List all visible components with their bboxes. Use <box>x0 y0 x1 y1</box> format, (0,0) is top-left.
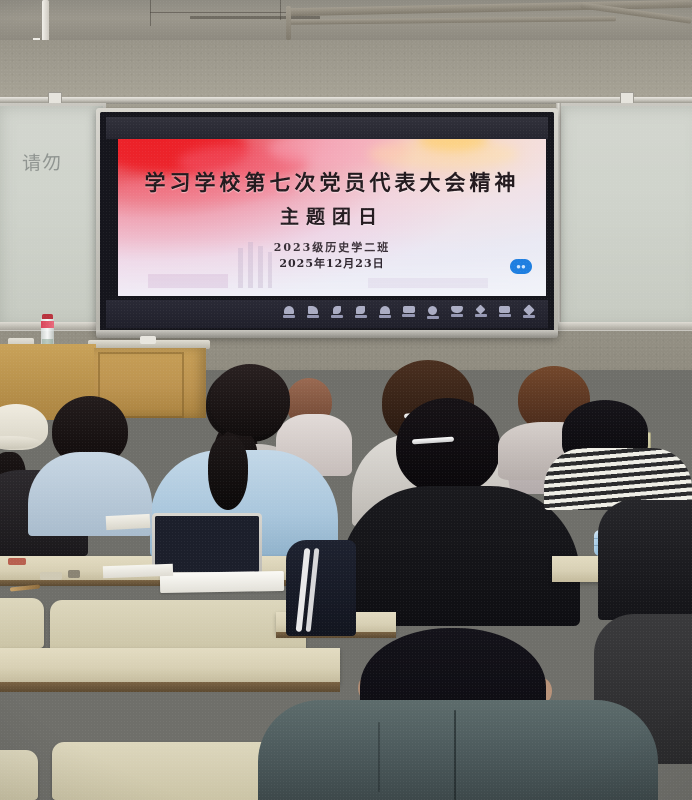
bottle-cap <box>42 314 53 319</box>
display-chin <box>96 330 558 338</box>
next-icon[interactable] <box>521 306 536 323</box>
desk-row-front <box>0 648 340 684</box>
shape-icon[interactable] <box>377 306 392 323</box>
grid-icon[interactable] <box>497 306 512 323</box>
whiteboard-handwriting: 请勿 <box>22 147 93 175</box>
desk-edge <box>0 682 340 692</box>
whiteboard-right <box>556 103 692 331</box>
keyboard-icon[interactable] <box>401 306 416 323</box>
chair-back <box>0 598 44 648</box>
desk-item <box>8 558 26 565</box>
whiteboard-bottom-rail <box>556 322 692 330</box>
whiteboard-left <box>0 103 106 331</box>
display-top-band <box>106 117 548 139</box>
papers-stack <box>160 571 284 593</box>
slide-date-line: 2025年12月23日 <box>118 255 546 271</box>
camera-icon[interactable] <box>425 306 440 323</box>
slide-logo-badge: ●● <box>510 259 532 274</box>
screen-icon[interactable] <box>449 306 464 323</box>
papers-stack <box>103 564 173 578</box>
save-icon[interactable] <box>281 306 296 323</box>
ceiling-pipe-drop <box>286 6 291 40</box>
back-icon[interactable] <box>473 306 488 323</box>
presentation-slide[interactable]: 学习学校第七次党员代表大会精神 主题团日 2023级历史学二班 2025年12月… <box>118 139 546 296</box>
student-foreground-jacket <box>258 700 658 800</box>
eraser-icon[interactable] <box>353 306 368 323</box>
desk-item <box>68 570 80 578</box>
ceiling-tile-line <box>190 16 320 19</box>
lectern-device <box>140 336 156 344</box>
chair-back <box>0 750 38 800</box>
bottle-label <box>41 321 54 328</box>
slide-title: 学习学校第七次党员代表大会精神 <box>118 167 546 197</box>
ceiling-tile-line <box>150 0 151 26</box>
slide-subtitle: 主题团日 <box>118 202 546 229</box>
chair-back <box>50 600 306 654</box>
share-icon[interactable] <box>305 306 320 323</box>
pen-icon[interactable] <box>329 306 344 323</box>
notebook <box>106 514 151 530</box>
classroom-photo: 请勿 学习学校第七次党员代表大会精神 主题 <box>0 0 692 800</box>
desk-item <box>40 572 62 580</box>
display-toolbar[interactable] <box>106 300 548 328</box>
slide-class-line: 2023级历史学二班 <box>118 239 546 255</box>
